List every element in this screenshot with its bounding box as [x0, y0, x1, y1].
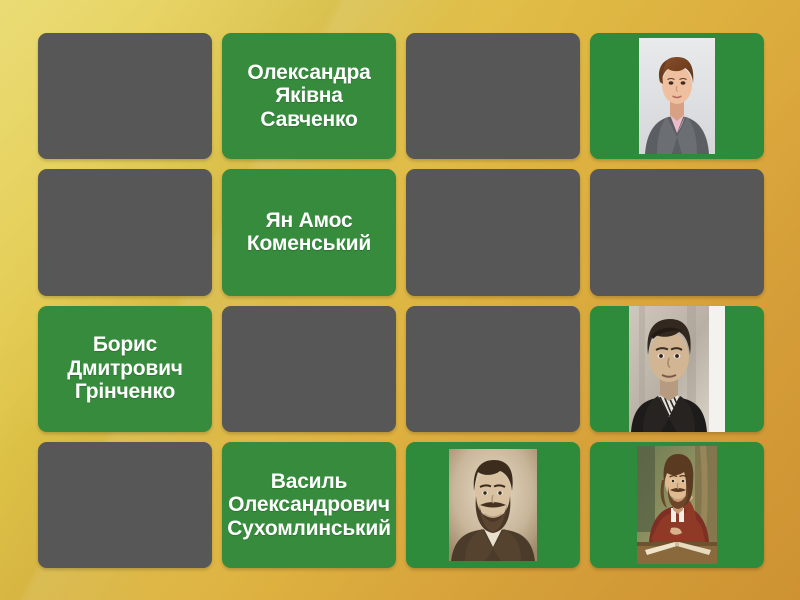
card-15-portrait-grinchenko[interactable]	[406, 442, 580, 568]
card-7-hidden[interactable]	[406, 169, 580, 295]
card-9-text-grinchenko[interactable]: Борис Дмитрович Грінченко	[38, 306, 212, 432]
card-2-text-savchenko[interactable]: Олександра Яківна Савченко	[222, 33, 396, 159]
card-11-hidden[interactable]	[406, 306, 580, 432]
card-6-text-comenius[interactable]: Ян Амос Коменський	[222, 169, 396, 295]
card-grid: Олександра Яківна Савченко	[38, 33, 764, 568]
sukhomlynsky-portrait-icon	[629, 306, 725, 432]
card-3-hidden[interactable]	[406, 33, 580, 159]
comenius-portrait-icon	[637, 446, 717, 564]
card-12-portrait-sukhomlynsky[interactable]	[590, 306, 764, 432]
card-6-label: Ян Амос Коменський	[247, 209, 371, 256]
card-14-text-sukhomlynsky[interactable]: Василь Олександрович Сухомлинський	[222, 442, 396, 568]
card-14-label: Василь Олександрович Сухомлинський	[227, 470, 391, 541]
card-2-label: Олександра Яківна Савченко	[247, 61, 370, 132]
savchenko-portrait-icon	[639, 38, 715, 154]
grinchenko-portrait-icon	[449, 449, 537, 561]
card-8-hidden[interactable]	[590, 169, 764, 295]
card-16-portrait-comenius[interactable]	[590, 442, 764, 568]
card-9-label: Борис Дмитрович Грінченко	[67, 333, 183, 404]
card-4-portrait-savchenko[interactable]	[590, 33, 764, 159]
card-13-hidden[interactable]	[38, 442, 212, 568]
card-5-hidden[interactable]	[38, 169, 212, 295]
card-1-hidden[interactable]	[38, 33, 212, 159]
card-10-hidden[interactable]	[222, 306, 396, 432]
matching-pairs-board: Олександра Яківна Савченко	[0, 0, 800, 600]
